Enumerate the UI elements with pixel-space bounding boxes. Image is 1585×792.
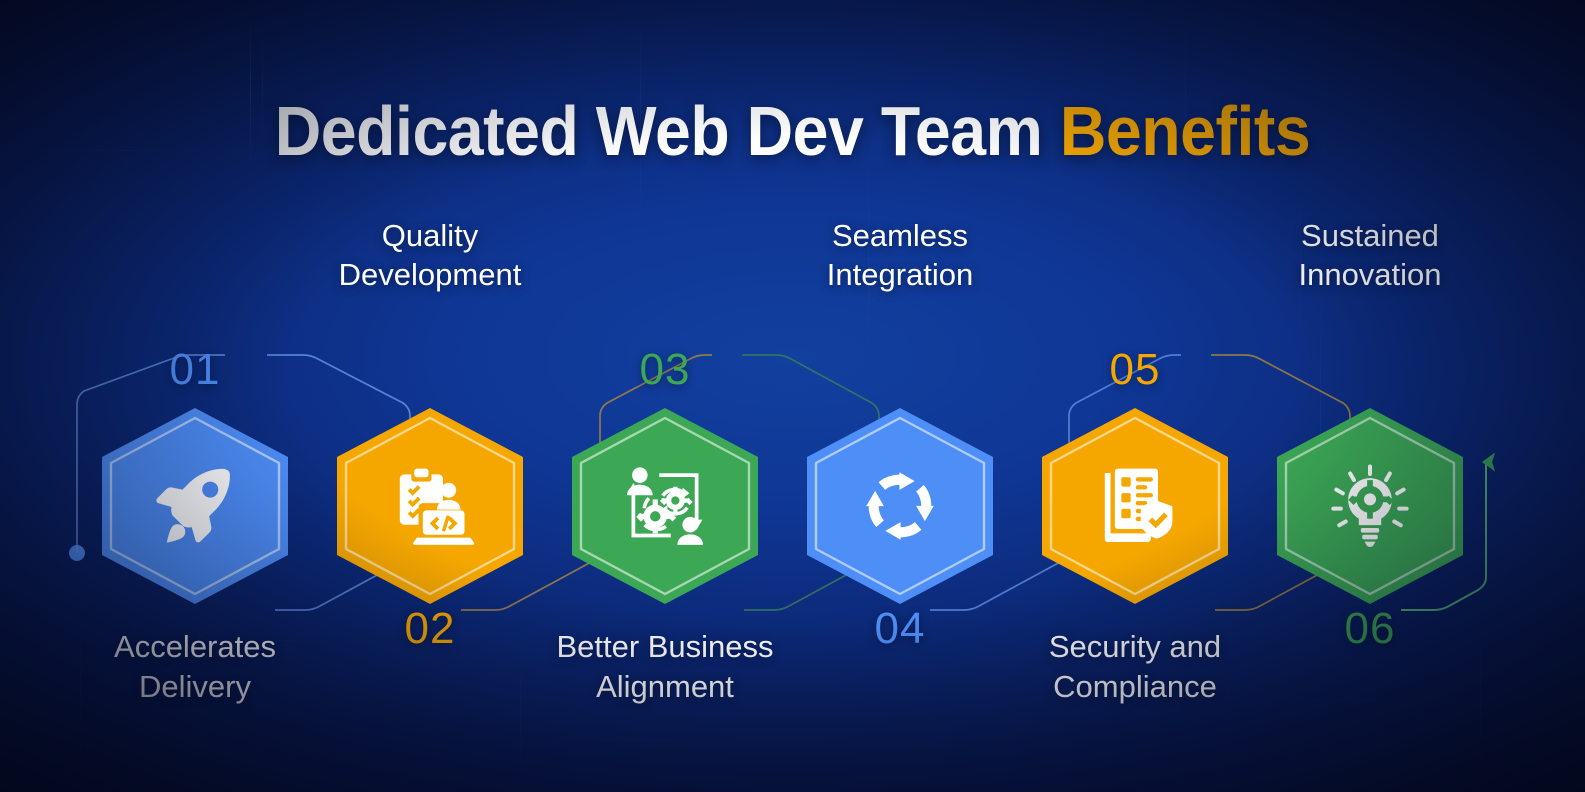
label-line-1: Quality	[382, 218, 478, 253]
team-gears-workflow-icon	[619, 460, 711, 552]
label-line-2: Delivery	[139, 669, 251, 704]
label-line-1: Better Business	[556, 629, 773, 664]
benefit-hexagon-06[interactable]	[1277, 408, 1463, 604]
label-line-2: Integration	[827, 257, 974, 292]
benefit-number-01: 01	[170, 348, 221, 392]
hexagon-shape	[807, 408, 993, 604]
label-line-2: Development	[339, 257, 522, 292]
benefit-hexagon-04[interactable]	[807, 408, 993, 604]
benefit-item-06[interactable]: 06 Sustained Innovation	[1220, 0, 1520, 792]
label-line-1: Seamless	[832, 218, 968, 253]
benefit-number-05: 05	[1110, 348, 1161, 392]
infographic-canvas: Dedicated Web Dev Team Benefits 01	[0, 0, 1585, 792]
hexagon-shape	[337, 408, 523, 604]
label-line-1: Accelerates	[114, 629, 276, 664]
label-line-2: Compliance	[1053, 669, 1217, 704]
rocket-icon	[149, 460, 241, 552]
label-line-2: Alignment	[596, 669, 734, 704]
benefit-number-03: 03	[640, 348, 691, 392]
clipboard-code-icon	[384, 460, 476, 552]
document-shield-check-icon	[1089, 460, 1181, 552]
hexagon-shape	[1277, 408, 1463, 604]
benefit-number-06: 06	[1345, 607, 1396, 651]
hexagon-shape	[102, 408, 288, 604]
hexagon-shape	[1042, 408, 1228, 604]
benefit-hexagon-02[interactable]	[337, 408, 523, 604]
hexagon-shape	[572, 408, 758, 604]
sync-arrows-icon	[854, 460, 946, 552]
benefit-hexagon-03[interactable]	[572, 408, 758, 604]
benefit-hexagon-01[interactable]	[102, 408, 288, 604]
benefit-number-04: 04	[875, 607, 926, 651]
benefit-number-02: 02	[405, 607, 456, 651]
label-line-1: Security and	[1049, 629, 1221, 664]
benefit-hexagon-05[interactable]	[1042, 408, 1228, 604]
label-line-2: Innovation	[1298, 257, 1441, 292]
benefit-label-06: Sustained Innovation	[1210, 216, 1530, 295]
lightbulb-gear-icon	[1324, 460, 1416, 552]
label-line-1: Sustained	[1301, 218, 1439, 253]
